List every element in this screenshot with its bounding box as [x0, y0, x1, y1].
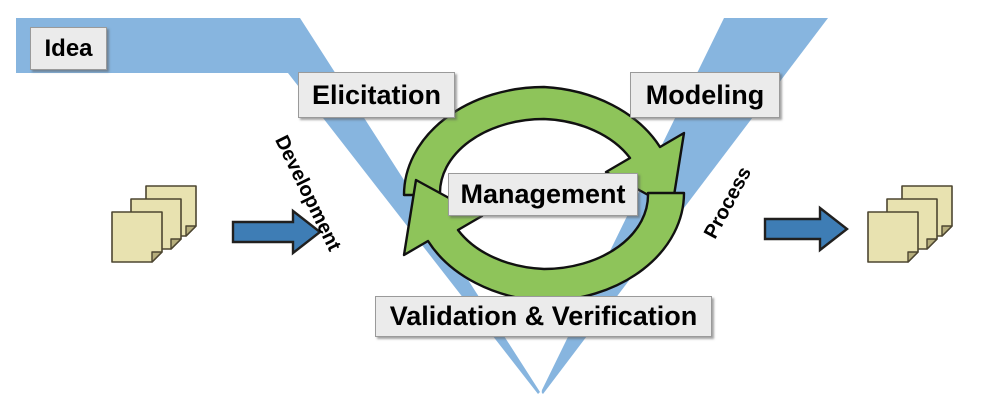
label-box-elicitation: Elicitation [298, 72, 455, 118]
label-box-validation-verification: Validation & Verification [375, 296, 712, 337]
document-page-front-fold [908, 252, 918, 262]
output-document-stack [868, 186, 952, 262]
document-page-middle-fold [171, 239, 181, 249]
document-page-middle-fold [927, 239, 937, 249]
label-box-management: Management [448, 173, 638, 216]
document-page-front-fold [152, 252, 162, 262]
label-box-modeling: Modeling [630, 72, 780, 118]
output-flow-arrow [765, 208, 847, 250]
document-page-back-fold [186, 226, 196, 236]
diagram-canvas: Development Process Idea Elicitation Mod… [0, 0, 982, 416]
document-page-back-fold [942, 226, 952, 236]
label-box-idea: Idea [30, 27, 107, 70]
input-document-stack [112, 186, 196, 262]
